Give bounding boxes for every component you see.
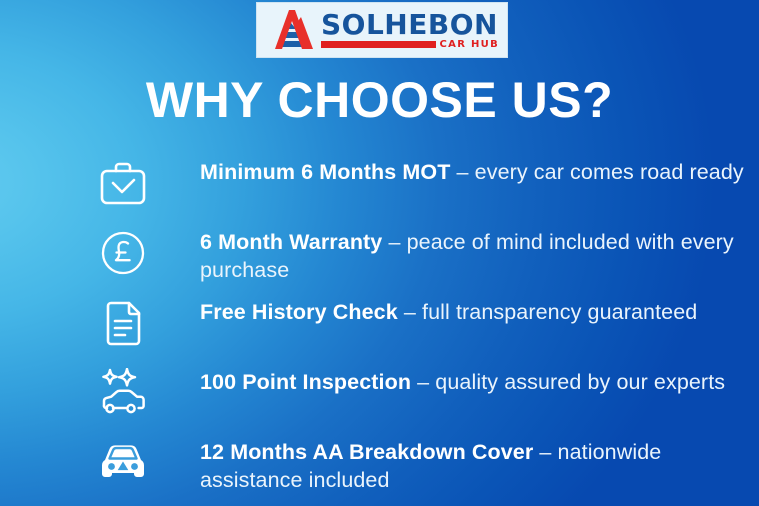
brand-name-text: SOLHEBON bbox=[321, 11, 499, 38]
feature-text: 12 Months AA Breakdown Cover – nationwid… bbox=[154, 432, 759, 494]
feature-dash: – bbox=[382, 230, 406, 254]
list-item: 12 Months AA Breakdown Cover – nationwid… bbox=[0, 432, 759, 502]
feature-list: Minimum 6 Months MOT – every car comes r… bbox=[0, 152, 759, 502]
feature-dash: – bbox=[411, 370, 435, 394]
brand-tagline-row: CAR HUB bbox=[321, 40, 499, 50]
sparkle-car-icon bbox=[92, 364, 154, 422]
page-title: WHY CHOOSE US? bbox=[0, 72, 759, 128]
feature-text: 6 Month Warranty – peace of mind include… bbox=[154, 222, 759, 284]
feature-detail: quality assured by our experts bbox=[435, 370, 725, 394]
list-item: 6 Month Warranty – peace of mind include… bbox=[0, 222, 759, 292]
feature-lead: Free History Check bbox=[200, 300, 398, 324]
document-lines-icon bbox=[92, 294, 154, 352]
feature-detail: every car comes road ready bbox=[475, 160, 744, 184]
brand-tagline-text: CAR HUB bbox=[440, 40, 499, 50]
list-item: Minimum 6 Months MOT – every car comes r… bbox=[0, 152, 759, 222]
feature-lead: Minimum 6 Months MOT bbox=[200, 160, 450, 184]
list-item: Free History Check – full transparency g… bbox=[0, 292, 759, 362]
feature-text: Free History Check – full transparency g… bbox=[154, 292, 759, 326]
briefcase-check-icon bbox=[92, 154, 154, 212]
feature-text: 100 Point Inspection – quality assured b… bbox=[154, 362, 759, 396]
feature-lead: 12 Months AA Breakdown Cover bbox=[200, 440, 533, 464]
feature-detail: full transparency guaranteed bbox=[422, 300, 697, 324]
feature-dash: – bbox=[450, 160, 474, 184]
list-item: 100 Point Inspection – quality assured b… bbox=[0, 362, 759, 432]
feature-text: Minimum 6 Months MOT – every car comes r… bbox=[154, 152, 759, 186]
car-front-breakdown-icon bbox=[92, 434, 154, 492]
feature-dash: – bbox=[533, 440, 557, 464]
brand-logo-panel: SOLHEBON CAR HUB bbox=[256, 2, 508, 58]
promo-poster: SOLHEBON CAR HUB WHY CHOOSE US? Minimum … bbox=[0, 0, 759, 506]
feature-lead: 100 Point Inspection bbox=[200, 370, 411, 394]
brand-wordmark: SOLHEBON CAR HUB bbox=[319, 11, 499, 50]
feature-lead: 6 Month Warranty bbox=[200, 230, 382, 254]
pound-circle-icon bbox=[92, 224, 154, 282]
solhebon-chevron-mark-icon bbox=[263, 7, 319, 53]
feature-dash: – bbox=[398, 300, 422, 324]
brand-red-bar bbox=[321, 41, 436, 48]
